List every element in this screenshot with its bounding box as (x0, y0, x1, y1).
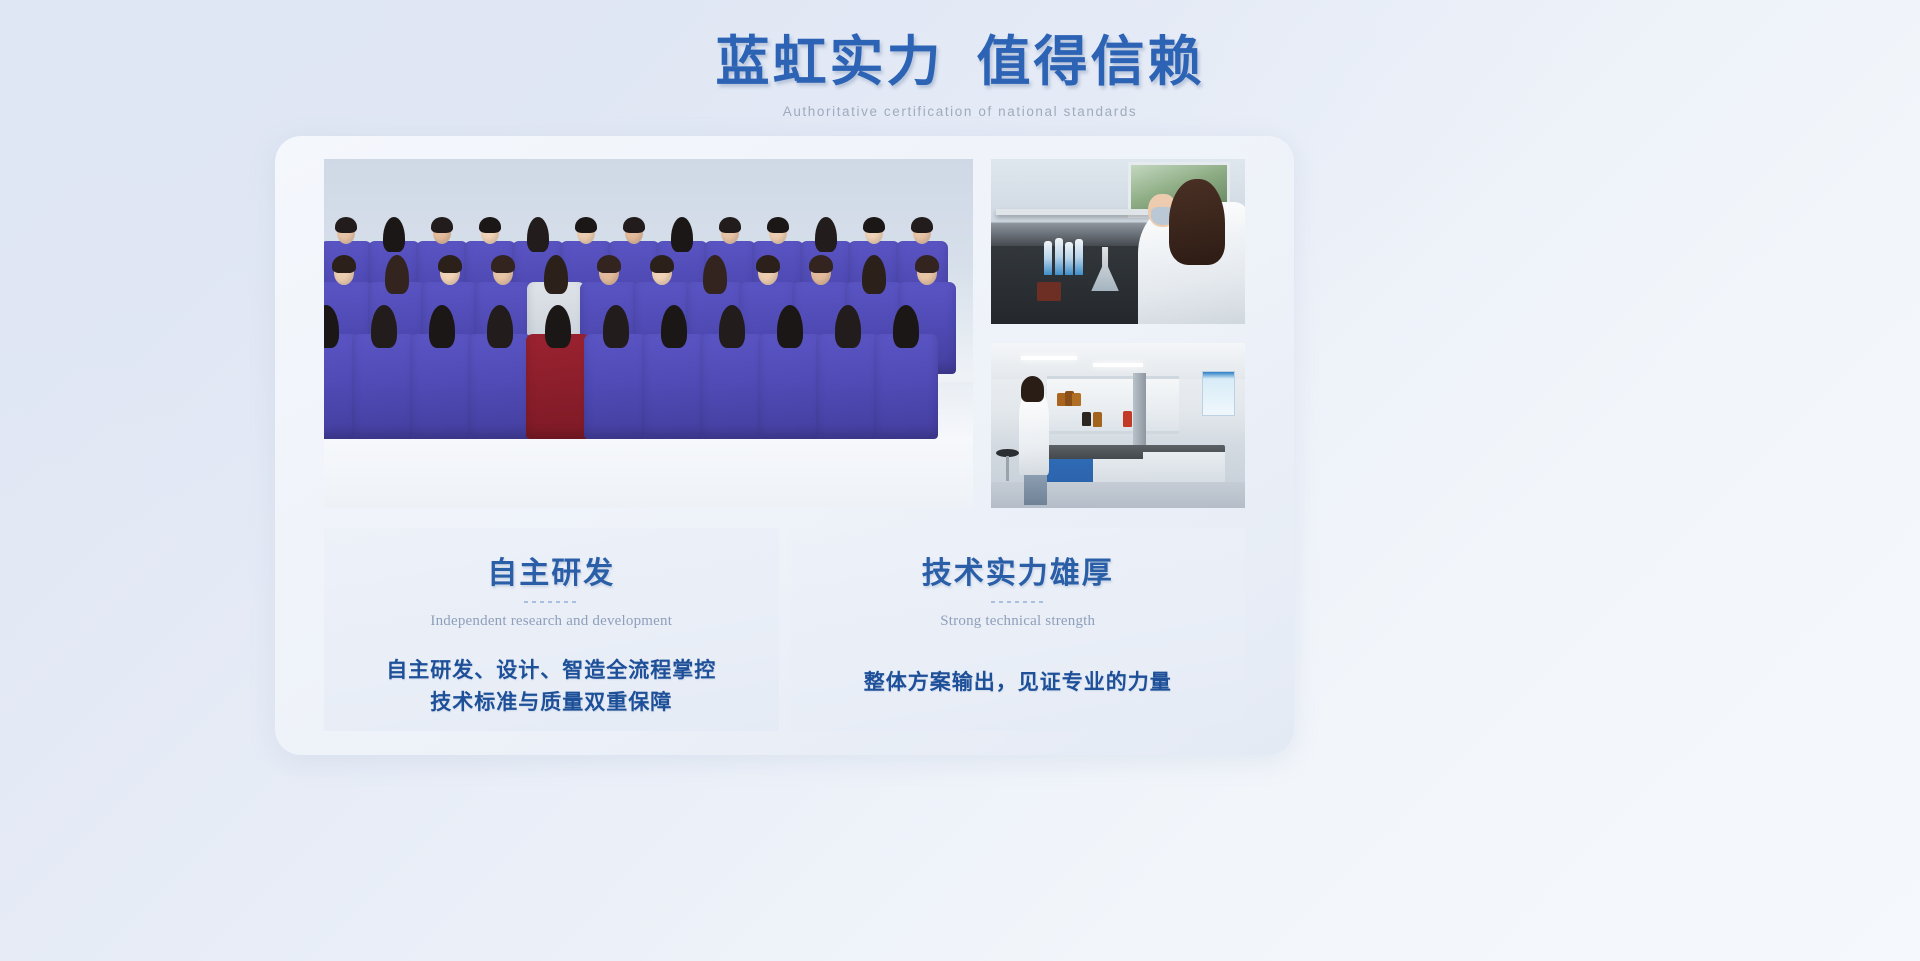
lab-a-shelf (996, 209, 1164, 216)
group-photo-person-hair (671, 217, 693, 252)
reagent-bottle-icon (1082, 412, 1091, 426)
lab-b-technician-hair (1021, 376, 1044, 402)
group-photo-person-hair (491, 255, 515, 273)
group-photo (324, 159, 973, 508)
dashed-divider-icon (524, 601, 578, 603)
media-row (324, 159, 1245, 508)
pipette-icon (1065, 242, 1073, 275)
lab-b-technician-coat (1019, 389, 1049, 475)
ceiling-light-icon (1021, 356, 1077, 360)
page-header: 蓝虹实力 值得信赖 Authoritative certification of… (0, 0, 1920, 119)
feature-panel-rd: 自主研发 Independent research and developmen… (324, 528, 779, 731)
lab-b-technician-legs (1024, 472, 1047, 505)
feature-panel-tech-title: 技术实力雄厚 (791, 548, 1246, 592)
group-photo-person-hair (809, 255, 833, 273)
reagent-bottle-icon (1093, 412, 1102, 427)
content-card: 自主研发 Independent research and developmen… (275, 136, 1294, 755)
feature-panel-tech: 技术实力雄厚 Strong technical strength 整体方案输出，… (791, 528, 1246, 731)
laboratory-room-photo (991, 343, 1245, 508)
pipette-icon (1044, 241, 1052, 275)
group-photo-person (700, 334, 764, 439)
pipette-icon (1055, 238, 1063, 275)
feature-panel-rd-title: 自主研发 (324, 548, 779, 592)
dashed-divider-icon (991, 601, 1045, 603)
feature-panel-tech-subtitle: Strong technical strength (791, 613, 1246, 630)
group-photo-person (758, 334, 822, 439)
group-photo-person-hair (438, 255, 462, 273)
group-photo-person-hair (915, 255, 939, 273)
group-photo-person-hair (383, 217, 405, 252)
group-photo-person (584, 334, 648, 439)
reagent-bottle-icon (1123, 411, 1132, 427)
group-photo-person-hair (756, 255, 780, 273)
group-photo-person (642, 334, 706, 439)
group-photo-person-hair (815, 217, 837, 252)
group-photo-person-hair (650, 255, 674, 273)
feature-panel-rd-subtitle: Independent research and development (324, 613, 779, 630)
group-photo-person-hair (431, 217, 453, 233)
safety-poster-icon (1202, 371, 1235, 416)
feature-panel-tech-body: 整体方案输出，见证专业的力量 (791, 667, 1246, 699)
group-photo-person (526, 334, 590, 439)
feature-panels: 自主研发 Independent research and developmen… (324, 528, 1245, 731)
group-photo-people (324, 159, 973, 508)
group-photo-person (468, 334, 532, 439)
pipette-icon (1075, 239, 1083, 275)
group-photo-person (874, 334, 938, 439)
lab-technician-photo (991, 159, 1245, 324)
group-photo-person-hair (911, 217, 933, 233)
group-photo-person (816, 334, 880, 439)
lab-stool-icon (996, 449, 1019, 485)
group-photo-person-hair (479, 217, 501, 233)
group-photo-person-hair (332, 255, 356, 273)
group-photo-person-hair (623, 217, 645, 233)
group-photo-person-hair (719, 217, 741, 233)
group-photo-person-hair (335, 217, 357, 233)
group-photo-person-hair (527, 217, 549, 252)
lab-a-technician-hair (1169, 179, 1225, 265)
page-title: 蓝虹实力 值得信赖 (0, 33, 1920, 91)
group-photo-person (352, 334, 416, 439)
group-photo-person (410, 334, 474, 439)
reagent-bottle-icon (1047, 282, 1061, 301)
page-subtitle: Authoritative certification of national … (0, 104, 1920, 119)
reagent-bottle-icon (1072, 393, 1081, 406)
lab-photo-column (991, 159, 1245, 508)
feature-panel-rd-body: 自主研发、设计、智造全流程掌控 技术标准与质量双重保障 (324, 655, 779, 719)
group-photo-person-hair (597, 255, 621, 273)
group-photo-person-hair (575, 217, 597, 233)
group-photo-person-hair (767, 217, 789, 233)
group-photo-person-hair (863, 217, 885, 233)
ceiling-light-icon (1093, 363, 1144, 367)
